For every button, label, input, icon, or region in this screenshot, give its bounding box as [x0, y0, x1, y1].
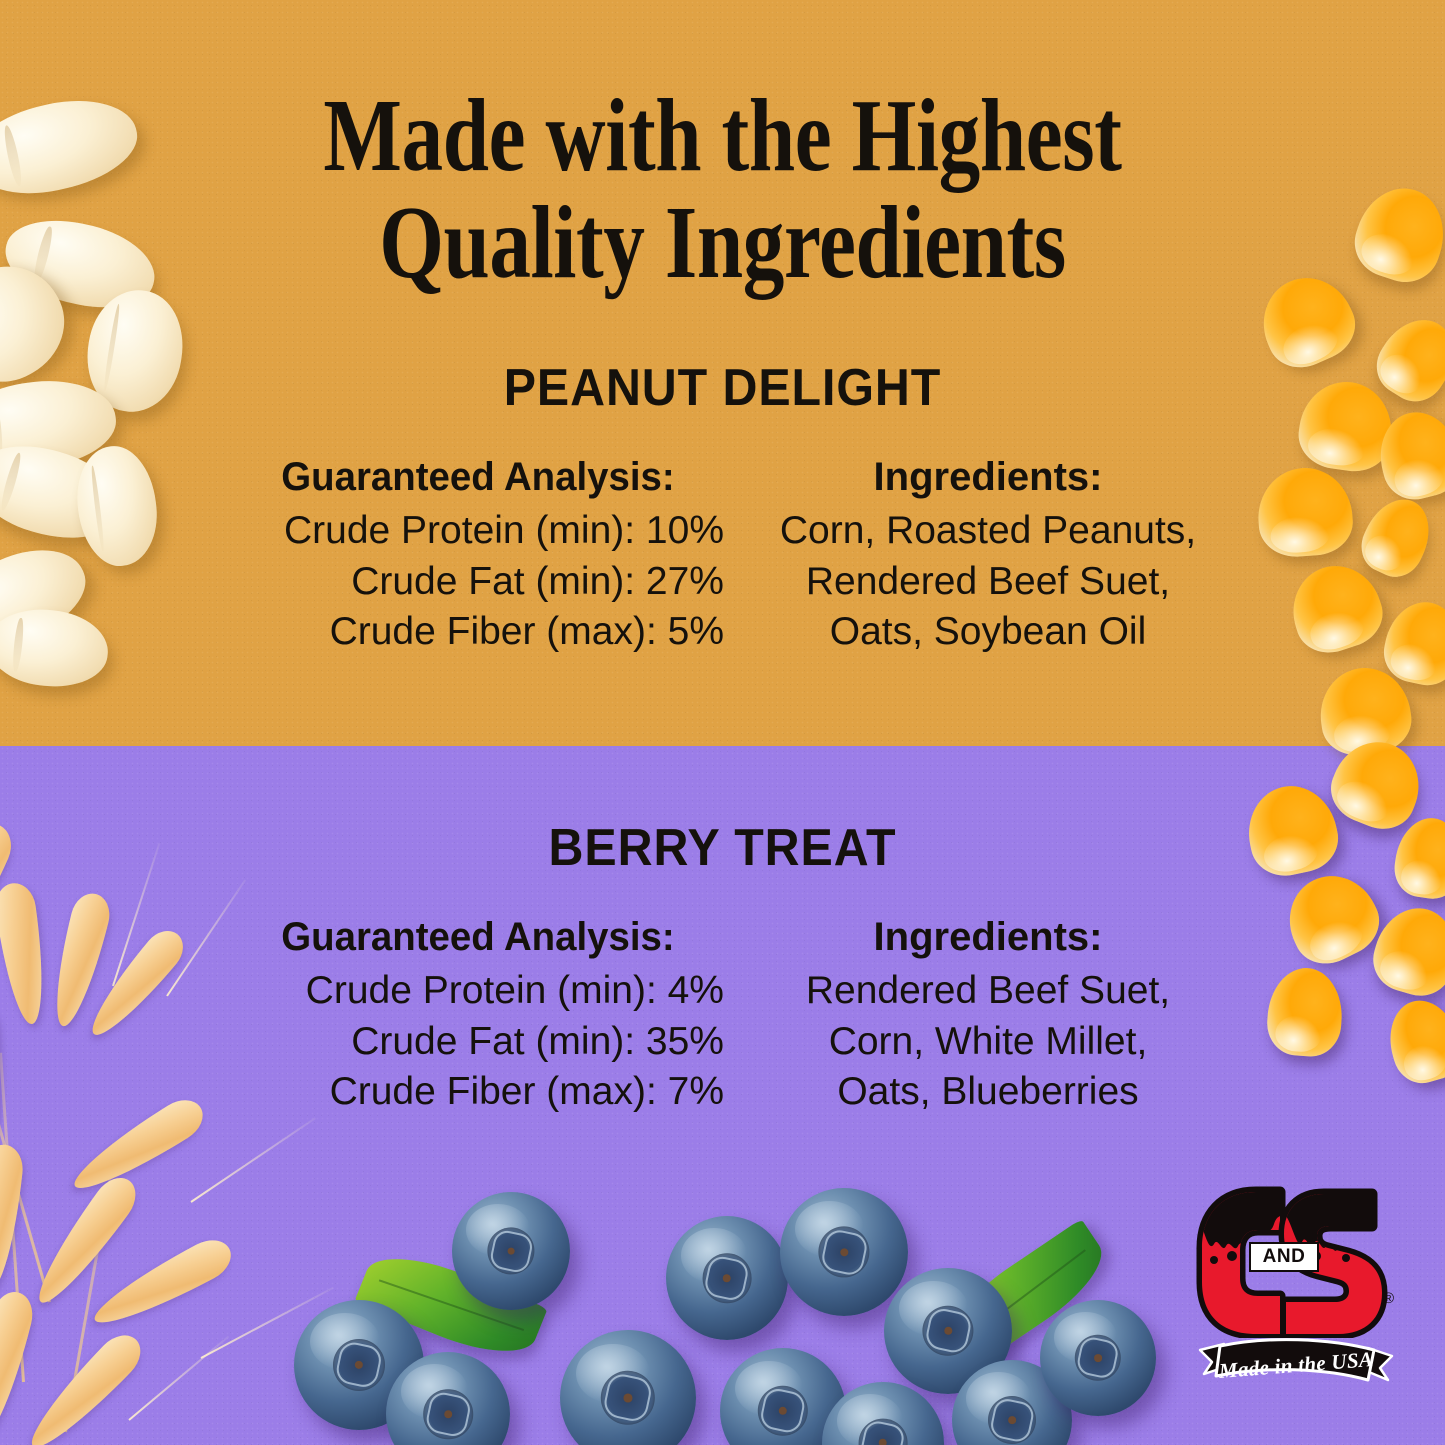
flavor-title-peanut-delight: PEANUT DELIGHT [51, 358, 1395, 418]
banner-ribbon-icon [1198, 1336, 1394, 1394]
berry-guaranteed-analysis-column: Guaranteed Analysis: Crude Protein (min)… [218, 915, 738, 1118]
oat-spikelet [0, 1143, 25, 1292]
oat-spikelet [19, 1326, 149, 1445]
peanut-ingredients-column: Ingredients: Corn, Roasted Peanuts, Rend… [738, 455, 1238, 658]
ingredients-line: Oats, Blueberries [738, 1067, 1238, 1118]
analysis-line: Crude Fiber (max): 5% [218, 607, 724, 658]
brand-logo-c-and-s: AND ® Made in the USA [1196, 1186, 1396, 1398]
oat-awn [128, 1336, 229, 1421]
berry-crown [487, 1227, 534, 1274]
ingredients-heading: Ingredients: [738, 455, 1238, 500]
oat-spikelet [0, 881, 52, 1027]
guaranteed-analysis-heading: Guaranteed Analysis: [228, 455, 727, 500]
analysis-line: Crude Fat (min): 27% [218, 557, 724, 608]
guaranteed-analysis-heading: Guaranteed Analysis: [228, 915, 727, 960]
oat-spikelet [86, 1232, 238, 1337]
made-in-usa-banner: Made in the USA [1198, 1336, 1394, 1394]
ingredients-line: Rendered Beef Suet, [738, 557, 1238, 608]
ingredients-line: Oats, Soybean Oil [738, 607, 1238, 658]
headline-line-2: Quality Ingredients [145, 189, 1301, 296]
analysis-line: Crude Fiber (max): 7% [218, 1067, 724, 1118]
analysis-line: Crude Protein (min): 10% [218, 506, 724, 557]
flavor-title-berry-treat: BERRY TREAT [51, 818, 1395, 878]
page-title: Made with the Highest Quality Ingredient… [145, 82, 1301, 296]
berry-crown [818, 1226, 869, 1277]
berry-ingredients-column: Ingredients: Rendered Beef Suet, Corn, W… [738, 915, 1238, 1118]
ingredients-list: Corn, Roasted Peanuts, Rendered Beef Sue… [738, 506, 1238, 658]
blueberry-icon [452, 1192, 570, 1310]
guaranteed-analysis-list: Crude Protein (min): 4% Crude Fat (min):… [218, 966, 738, 1118]
blueberry-icon [666, 1216, 788, 1340]
peanut-guaranteed-analysis-column: Guaranteed Analysis: Crude Protein (min)… [218, 455, 738, 658]
berry-crown [988, 1396, 1036, 1444]
guaranteed-analysis-list: Crude Protein (min): 10% Crude Fat (min)… [218, 506, 738, 658]
peanut-delight-info-columns: Guaranteed Analysis: Crude Protein (min)… [218, 455, 1238, 658]
ingredients-list: Rendered Beef Suet, Corn, White Millet, … [738, 966, 1238, 1118]
berry-crown [703, 1253, 752, 1303]
analysis-line: Crude Protein (min): 4% [218, 966, 724, 1017]
berry-crown [922, 1306, 973, 1356]
berry-treat-info-columns: Guaranteed Analysis: Crude Protein (min)… [218, 915, 1238, 1118]
berry-crown [423, 1389, 473, 1439]
blueberry-icon [1040, 1300, 1156, 1416]
registered-trademark-icon: ® [1383, 1290, 1394, 1307]
headline-line-1: Made with the Highest [145, 82, 1301, 189]
berry-crown [333, 1339, 385, 1391]
product-label-panel: Made with the Highest Quality Ingredient… [0, 0, 1445, 1445]
ingredients-line: Corn, Roasted Peanuts, [738, 506, 1238, 557]
ingredients-line: Corn, White Millet, [738, 1017, 1238, 1068]
oat-spikelet [0, 1288, 38, 1443]
blueberry-icon [780, 1188, 908, 1316]
oat-spikelet [65, 1091, 211, 1202]
logo-and-label: AND [1249, 1242, 1319, 1272]
ingredients-heading: Ingredients: [738, 915, 1238, 960]
analysis-line: Crude Fat (min): 35% [218, 1017, 724, 1068]
berry-crown [1075, 1335, 1121, 1381]
berry-crown [601, 1371, 655, 1425]
ingredients-line: Rendered Beef Suet, [738, 966, 1238, 1017]
berry-crown [758, 1386, 808, 1436]
